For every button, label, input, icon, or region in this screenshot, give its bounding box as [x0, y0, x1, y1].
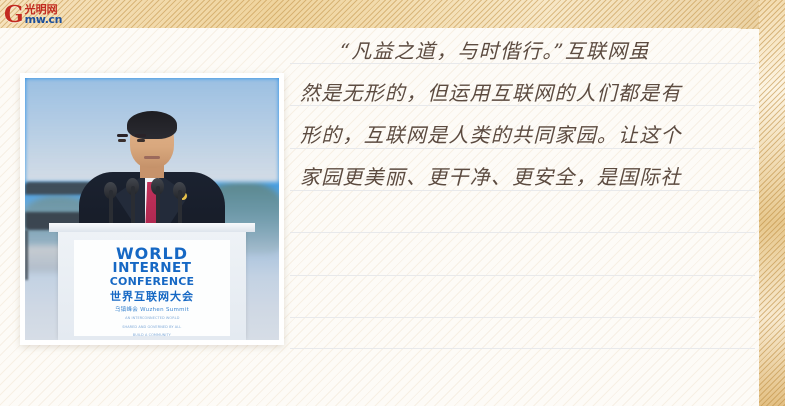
- speaker-brow-right: [135, 134, 146, 137]
- podium-sign-panel: WORLD INTERNET CONFERENCE 世界互联网大会 乌镇峰会 W…: [74, 240, 230, 336]
- quote-block: “凡益之道，与时偕行。”互联网虽 然是无形的，但运用互联网的人们都是有 形的，互…: [300, 30, 714, 198]
- podium-title-chinese: 世界互联网大会: [110, 288, 194, 304]
- podium-fine-en-3: BUILD A COMMUNITY: [133, 334, 171, 339]
- podium-fine-en-2: SHARED AND GOVERNED BY ALL: [122, 325, 181, 330]
- speaker-photo-frame[interactable]: WORLD INTERNET CONFERENCE 世界互联网大会 乌镇峰会 W…: [20, 73, 284, 345]
- speaker-eye-right: [137, 139, 145, 142]
- gmw-logo-icon[interactable]: G 光明网 mw.cn: [4, 1, 92, 28]
- quote-line-1: “凡益之道，与时偕行。”互联网虽: [300, 30, 714, 72]
- right-gold-band: [759, 0, 785, 406]
- page-root: WORLD INTERNET CONFERENCE 世界互联网大会 乌镇峰会 W…: [0, 0, 785, 406]
- speaker-mouth: [144, 156, 160, 159]
- quote-line-2: 然是无形的，但运用互联网的人们都是有: [300, 72, 714, 114]
- quote-line-4: 家园更美丽、更干净、更安全，是国际社: [300, 156, 714, 198]
- speaker-eye-left: [118, 139, 126, 142]
- podium-title-line3: CONFERENCE: [110, 276, 194, 287]
- podium-top-surface: [49, 223, 255, 232]
- logo-letter-g: G: [4, 3, 24, 26]
- speaker-brow-left: [117, 134, 128, 137]
- quote-line-3: 形的，互联网是人类的共同家园。让这个: [300, 114, 714, 156]
- podium-subtitle: 乌镇峰会 Wuzhen Summit: [115, 305, 189, 313]
- background-boat-post-icon: [25, 230, 28, 280]
- speaker-photo: WORLD INTERNET CONFERENCE 世界互联网大会 乌镇峰会 W…: [25, 78, 279, 340]
- logo-text-stack: 光明网 mw.cn: [25, 4, 62, 25]
- podium-fine-en-1: AN INTERCONNECTED WORLD: [125, 316, 179, 321]
- podium-title-line2: INTERNET: [113, 262, 192, 276]
- top-gold-band: [0, 0, 785, 29]
- podium: WORLD INTERNET CONFERENCE 世界互联网大会 乌镇峰会 W…: [58, 230, 246, 340]
- logo-name-en: mw.cn: [25, 14, 62, 25]
